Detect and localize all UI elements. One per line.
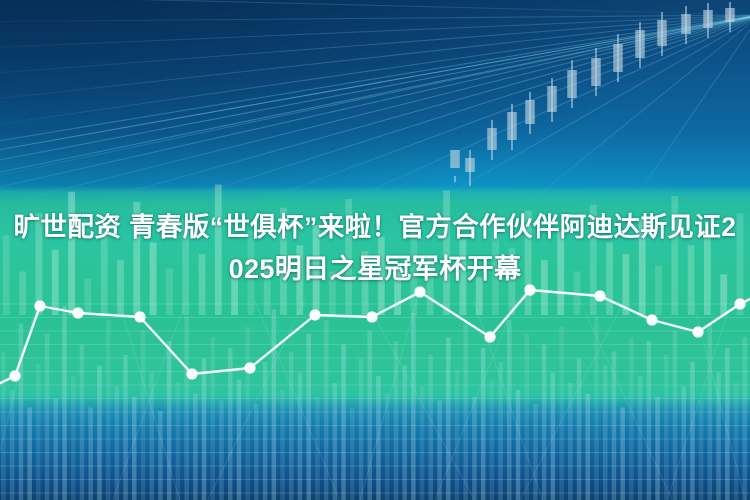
- banner-image: 旷世配资 青春版“世俱杯”来啦！官方合作伙伴阿迪达斯见证2 025明日之星冠军杯…: [0, 0, 750, 500]
- line-chart-overlay: [0, 280, 750, 410]
